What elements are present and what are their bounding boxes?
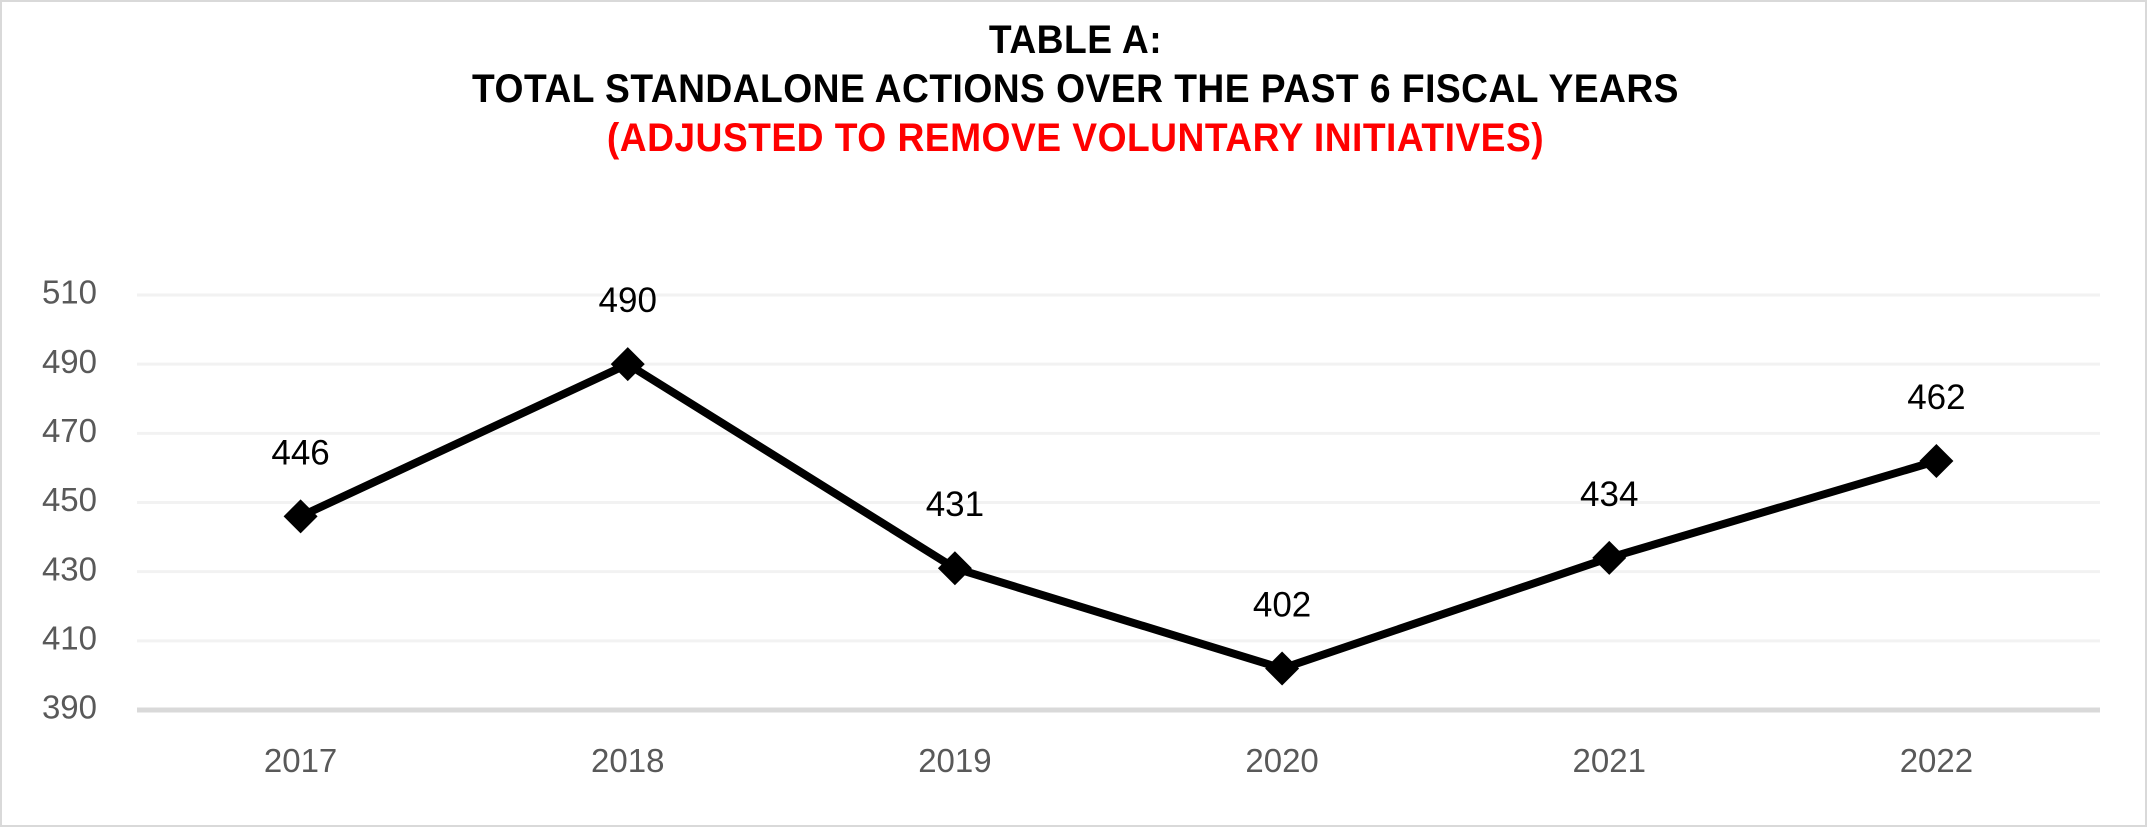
x-axis-tick-label: 2022 — [1900, 742, 1973, 779]
y-axis-tick-label: 410 — [42, 620, 97, 657]
x-axis-tick-label: 2018 — [591, 742, 664, 779]
markers-group — [284, 347, 1954, 685]
x-axis-tick-labels: 201720182019202020212022 — [264, 742, 1973, 779]
y-axis-tick-label: 470 — [42, 412, 97, 449]
x-axis-tick-label: 2020 — [1245, 742, 1318, 779]
series-line-total-standalone-actions — [301, 364, 1937, 668]
x-axis-tick-label: 2021 — [1573, 742, 1646, 779]
chart-page: TABLE A: TOTAL STANDALONE ACTIONS OVER T… — [0, 0, 2147, 827]
data-point-marker — [1265, 652, 1299, 686]
data-point-label: 434 — [1580, 475, 1638, 514]
y-axis-tick-label: 490 — [42, 343, 97, 380]
data-point-marker — [284, 499, 318, 533]
data-point-label: 446 — [271, 433, 329, 472]
series-group — [301, 364, 1937, 668]
x-axis-tick-label: 2017 — [264, 742, 337, 779]
line-chart-plot: 510490470450430410390 201720182019202020… — [2, 2, 2147, 827]
data-point-label: 462 — [1907, 378, 1965, 417]
y-axis-tick-label: 390 — [42, 689, 97, 726]
y-axis-tick-label: 510 — [42, 274, 97, 311]
y-axis-tick-label: 450 — [42, 481, 97, 518]
x-axis-tick-label: 2019 — [918, 742, 991, 779]
data-point-label: 490 — [599, 281, 657, 320]
data-point-marker — [1592, 541, 1626, 575]
y-axis-tick-label: 430 — [42, 550, 97, 587]
y-axis-tick-labels: 510490470450430410390 — [42, 274, 97, 726]
data-point-label: 402 — [1253, 586, 1311, 625]
data-point-marker — [1919, 444, 1953, 478]
data-point-label: 431 — [926, 485, 984, 524]
